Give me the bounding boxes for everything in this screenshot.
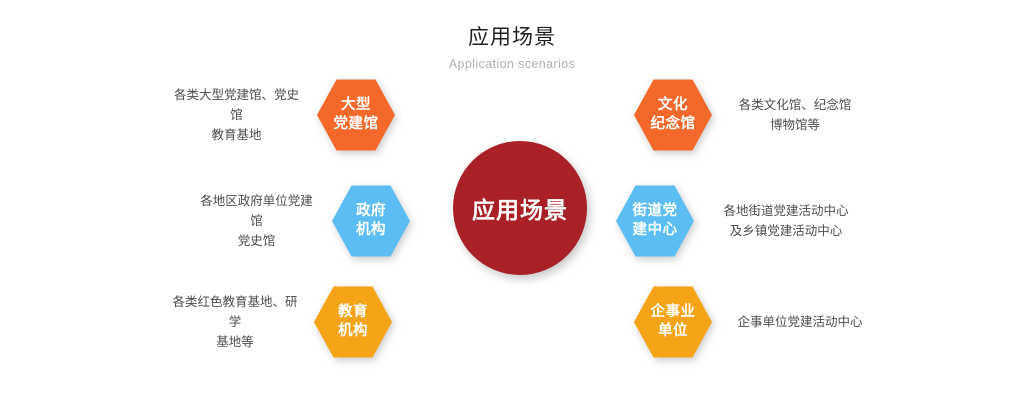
node-description: 企事单位党建活动中心 xyxy=(726,312,874,332)
hexagon-shape: 大型 党建馆 xyxy=(317,78,395,152)
hexagon-badge: 政府 机构 xyxy=(332,184,410,258)
hexagon-shape: 企事业 单位 xyxy=(634,285,712,359)
hexagon-label: 文化 纪念馆 xyxy=(651,96,696,134)
node-description: 各类文化馆、纪念馆 博物馆等 xyxy=(726,95,864,135)
hexagon-label: 街道党 建中心 xyxy=(633,202,678,240)
center-hub-label: 应用场景 xyxy=(472,191,568,225)
node-large-party-hall[interactable]: 各类大型党建馆、党史馆 教育基地 大型 党建馆 xyxy=(170,78,395,152)
node-culture-memorial-hall[interactable]: 文化 纪念馆 各类文化馆、纪念馆 博物馆等 xyxy=(634,78,864,152)
node-government-agency[interactable]: 各地区政府单位党建馆 党史馆 政府 机构 xyxy=(195,184,410,258)
hexagon-shape: 政府 机构 xyxy=(332,184,410,258)
node-enterprise-institution[interactable]: 企事业 单位 企事单位党建活动中心 xyxy=(634,285,874,359)
hexagon-label: 大型 党建馆 xyxy=(334,96,379,134)
node-description: 各类红色教育基地、研学 基地等 xyxy=(170,292,300,352)
diagram-header: 应用场景 Application scenarios xyxy=(0,24,1024,72)
node-street-party-center[interactable]: 街道党 建中心 各地街道党建活动中心 及乡镇党建活动中心 xyxy=(616,184,864,258)
hexagon-shape: 街道党 建中心 xyxy=(616,184,694,258)
application-scenarios-diagram: 应用场景 Application scenarios 应用场景 各类大型党建馆、… xyxy=(0,0,1024,416)
hexagon-badge: 教育 机构 xyxy=(314,285,392,359)
page-title: 应用场景 xyxy=(0,24,1024,52)
node-description: 各地街道党建活动中心 及乡镇党建活动中心 xyxy=(708,201,864,241)
hexagon-shape: 文化 纪念馆 xyxy=(634,78,712,152)
hexagon-label: 企事业 单位 xyxy=(651,303,696,341)
hexagon-badge: 文化 纪念馆 xyxy=(634,78,712,152)
hexagon-label: 政府 机构 xyxy=(356,202,386,240)
node-description: 各类大型党建馆、党史馆 教育基地 xyxy=(170,85,303,145)
node-description: 各地区政府单位党建馆 党史馆 xyxy=(195,191,318,251)
hexagon-label: 教育 机构 xyxy=(338,303,368,341)
hexagon-badge: 企事业 单位 xyxy=(634,285,712,359)
hexagon-badge: 大型 党建馆 xyxy=(317,78,395,152)
hexagon-badge: 街道党 建中心 xyxy=(616,184,694,258)
page-subtitle: Application scenarios xyxy=(0,56,1024,72)
node-education-institution[interactable]: 各类红色教育基地、研学 基地等 教育 机构 xyxy=(170,285,392,359)
hexagon-shape: 教育 机构 xyxy=(314,285,392,359)
center-hub-circle: 应用场景 xyxy=(453,141,587,275)
